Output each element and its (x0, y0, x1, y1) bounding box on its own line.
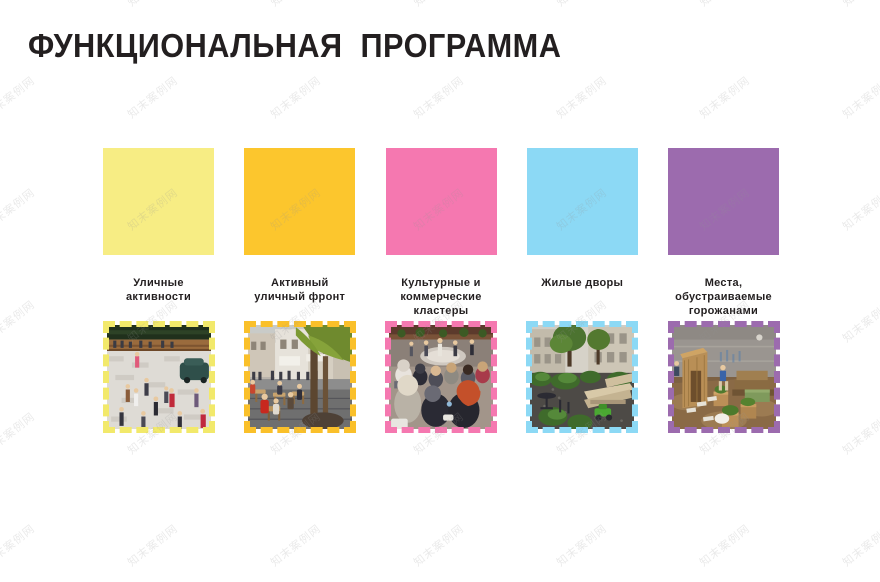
watermark-text: 知末案例网 (698, 75, 752, 121)
watermark-text: 知末案例网 (698, 0, 752, 9)
legend-column-citizen-built-places[interactable]: Места, обустраиваемые горожанами (668, 148, 779, 433)
watermark-text: 知末案例网 (841, 75, 880, 121)
watermark-text: 知末案例网 (841, 0, 880, 9)
legend-column-street-activities[interactable]: Уличные активности (103, 148, 214, 433)
watermark-text: 知末案例网 (0, 411, 37, 457)
photo-street-activities (107, 325, 211, 429)
watermark-text: 知末案例网 (126, 0, 180, 9)
watermark-text: 知末案例网 (412, 523, 466, 569)
color-swatch-street-activities (103, 148, 214, 255)
watermark-text: 知末案例网 (412, 75, 466, 121)
watermark-text: 知末案例网 (0, 523, 37, 569)
photo-card-residential-yards[interactable] (526, 321, 638, 433)
photo-cultural-commercial-clusters (389, 325, 493, 429)
legend-label-street-activities: Уличные активности (126, 276, 191, 318)
photo-card-cultural-commercial-clusters[interactable] (385, 321, 497, 433)
photo-active-street-front: La (248, 325, 352, 429)
legend-label-citizen-built-places: Места, обустраиваемые горожанами (675, 276, 772, 318)
color-swatch-residential-yards (527, 148, 638, 255)
program-legend-grid: Уличные активности (103, 148, 779, 433)
photo-card-active-street-front[interactable]: La (244, 321, 356, 433)
legend-column-active-street-front[interactable]: Активный уличный фронт (244, 148, 355, 433)
photo-card-street-activities[interactable] (103, 321, 215, 433)
watermark-text: 知末案例网 (0, 0, 37, 9)
color-swatch-active-street-front (244, 148, 355, 255)
watermark-text: 知末案例网 (0, 299, 37, 345)
watermark-text: 知末案例网 (0, 187, 37, 233)
watermark-text: 知末案例网 (269, 523, 323, 569)
watermark-text: 知末案例网 (555, 75, 609, 121)
legend-label-active-street-front: Активный уличный фронт (254, 276, 345, 318)
legend-column-cultural-commercial-clusters[interactable]: Культурные и коммерческие кластеры (386, 148, 497, 433)
watermark-text: 知末案例网 (126, 75, 180, 121)
watermark-text: 知末案例网 (269, 0, 323, 9)
watermark-text: 知末案例网 (126, 523, 180, 569)
photo-residential-yards (530, 325, 634, 429)
legend-label-residential-yards: Жилые дворы (541, 276, 623, 318)
photo-card-citizen-built-places[interactable] (668, 321, 780, 433)
watermark-text: 知末案例网 (0, 75, 37, 121)
watermark-text: 知末案例网 (555, 0, 609, 9)
watermark-text: 知末案例网 (555, 523, 609, 569)
watermark-text: 知末案例网 (841, 523, 880, 569)
page-title: ФУНКЦИОНАЛЬНАЯ ПРОГРАММА (28, 28, 561, 64)
watermark-text: 知末案例网 (841, 187, 880, 233)
watermark-text: 知末案例网 (412, 0, 466, 9)
watermark-text: 知末案例网 (269, 75, 323, 121)
legend-column-residential-yards[interactable]: Жилые дворы (527, 148, 638, 433)
watermark-text: 知末案例网 (841, 299, 880, 345)
legend-label-cultural-commercial-clusters: Культурные и коммерческие кластеры (400, 276, 481, 318)
watermark-text: 知末案例网 (841, 411, 880, 457)
color-swatch-citizen-built-places (668, 148, 779, 255)
color-swatch-cultural-commercial-clusters (386, 148, 497, 255)
photo-citizen-built-places (672, 325, 776, 429)
watermark-text: 知末案例网 (698, 523, 752, 569)
